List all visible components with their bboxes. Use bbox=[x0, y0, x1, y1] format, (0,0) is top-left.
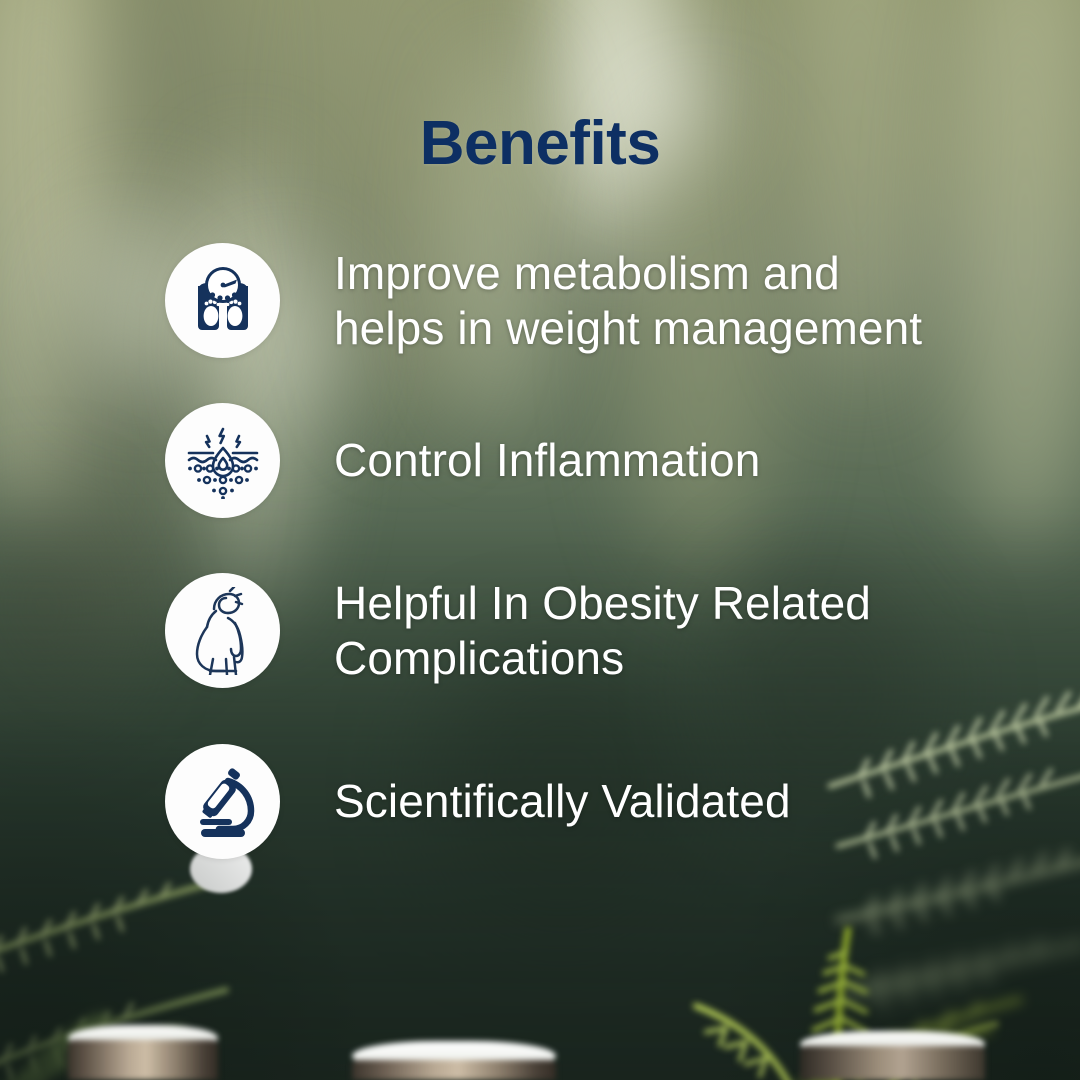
benefit-icon-circle bbox=[165, 744, 280, 859]
obese-person-icon bbox=[186, 587, 260, 675]
benefit-item[interactable]: Scientifically Validated bbox=[165, 744, 791, 859]
benefit-label: Scientifically Validated bbox=[334, 774, 791, 828]
microscope-icon bbox=[184, 763, 262, 841]
skin-inflammation-icon bbox=[183, 423, 263, 499]
benefit-label: Helpful In Obesity Related Complications bbox=[334, 576, 871, 685]
benefit-item[interactable]: Control Inflammation bbox=[165, 403, 760, 518]
benefit-label: Control Inflammation bbox=[334, 433, 760, 487]
benefit-item[interactable]: Improve metabolism and helps in weight m… bbox=[165, 243, 922, 358]
page-title: Benefits bbox=[0, 108, 1080, 179]
benefit-icon-circle bbox=[165, 403, 280, 518]
benefit-icon-circle bbox=[165, 573, 280, 688]
benefit-icon-circle bbox=[165, 243, 280, 358]
benefit-item[interactable]: Helpful In Obesity Related Complications bbox=[165, 573, 871, 688]
weight-scale-icon bbox=[184, 262, 262, 340]
benefit-label: Improve metabolism and helps in weight m… bbox=[334, 246, 922, 355]
